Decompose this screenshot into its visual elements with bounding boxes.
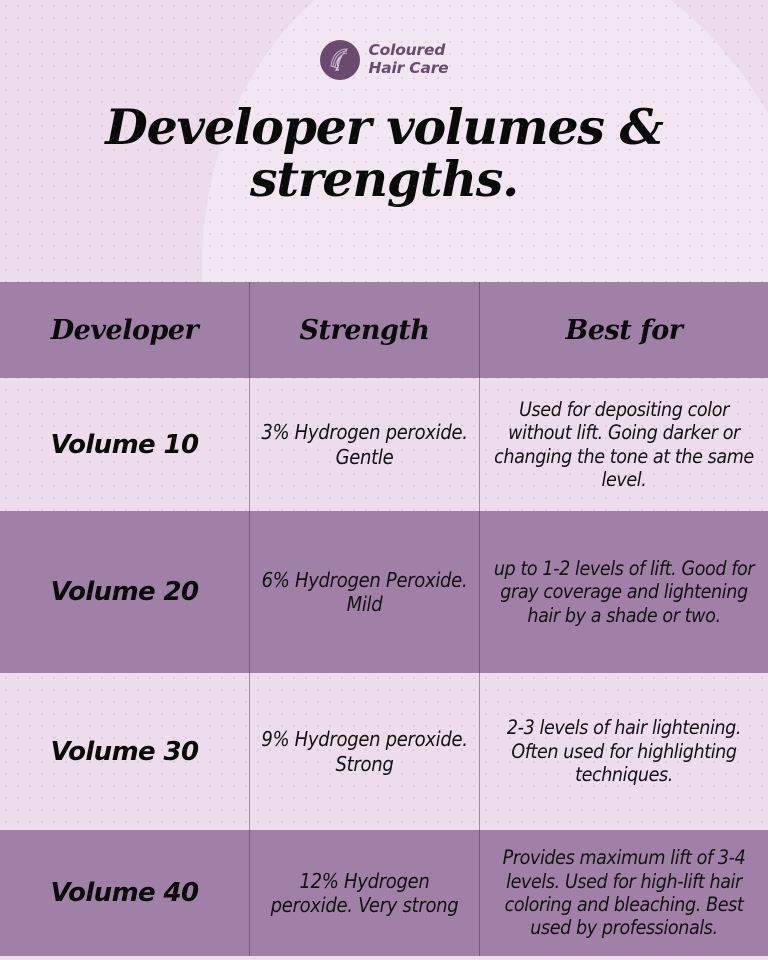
infographic-poster: Coloured Hair Care Developer volumes & s… [0, 0, 768, 960]
table-row: Volume 40 12% Hydrogen peroxide. Very st… [0, 830, 768, 956]
cell-strength: 6% Hydrogen Peroxide. Mild [250, 511, 480, 673]
table-header-row: Developer Strength Best for [0, 282, 768, 378]
bottom-strip [0, 956, 768, 960]
developer-label: Volume 40 [50, 878, 198, 908]
cell-best-for: Provides maximum lift of 3-4 levels. Use… [480, 830, 768, 956]
best-for-text: 2-3 levels of hair lightening. Often use… [490, 716, 758, 786]
strength-text: 9% Hydrogen peroxide. Strong [260, 727, 469, 776]
column-header-developer: Developer [0, 282, 250, 378]
brand-logo: Coloured Hair Care [0, 0, 768, 80]
cell-strength: 12% Hydrogen peroxide. Very strong [250, 830, 480, 956]
brand-line-2: Hair Care [369, 60, 449, 78]
column-header-strength: Strength [250, 282, 480, 378]
cell-best-for: 2-3 levels of hair lightening. Often use… [480, 673, 768, 830]
hair-portrait-circle-icon [320, 40, 360, 80]
cell-developer: Volume 20 [0, 511, 250, 673]
cell-developer: Volume 10 [0, 378, 250, 511]
developer-label: Volume 20 [50, 577, 198, 607]
cell-strength: 9% Hydrogen peroxide. Strong [250, 673, 480, 830]
best-for-text: up to 1-2 levels of lift. Good for gray … [490, 557, 758, 627]
table-row: Volume 30 9% Hydrogen peroxide. Strong 2… [0, 673, 768, 830]
brand-name: Coloured Hair Care [369, 42, 449, 78]
cell-developer: Volume 30 [0, 673, 250, 830]
developer-volume-table: Developer Strength Best for Volume 10 3%… [0, 282, 768, 956]
column-header-best-for: Best for [480, 282, 768, 378]
page-title: Developer volumes & strengths. [0, 102, 768, 206]
cell-strength: 3% Hydrogen peroxide. Gentle [250, 378, 480, 511]
cell-best-for: Used for depositing color without lift. … [480, 378, 768, 511]
table-row: Volume 10 3% Hydrogen peroxide. Gentle U… [0, 378, 768, 511]
table-row: Volume 20 6% Hydrogen Peroxide. Mild up … [0, 511, 768, 673]
cell-developer: Volume 40 [0, 830, 250, 956]
brand-line-1: Coloured [369, 42, 449, 60]
strength-text: 6% Hydrogen Peroxide. Mild [260, 568, 469, 617]
strength-text: 3% Hydrogen peroxide. Gentle [260, 420, 469, 469]
cell-best-for: up to 1-2 levels of lift. Good for gray … [480, 511, 768, 673]
strength-text: 12% Hydrogen peroxide. Very strong [260, 869, 469, 918]
developer-label: Volume 30 [50, 737, 198, 767]
developer-label: Volume 10 [50, 430, 198, 460]
best-for-text: Provides maximum lift of 3-4 levels. Use… [490, 846, 758, 940]
best-for-text: Used for depositing color without lift. … [490, 398, 758, 492]
poster-header: Coloured Hair Care Developer volumes & s… [0, 0, 768, 282]
